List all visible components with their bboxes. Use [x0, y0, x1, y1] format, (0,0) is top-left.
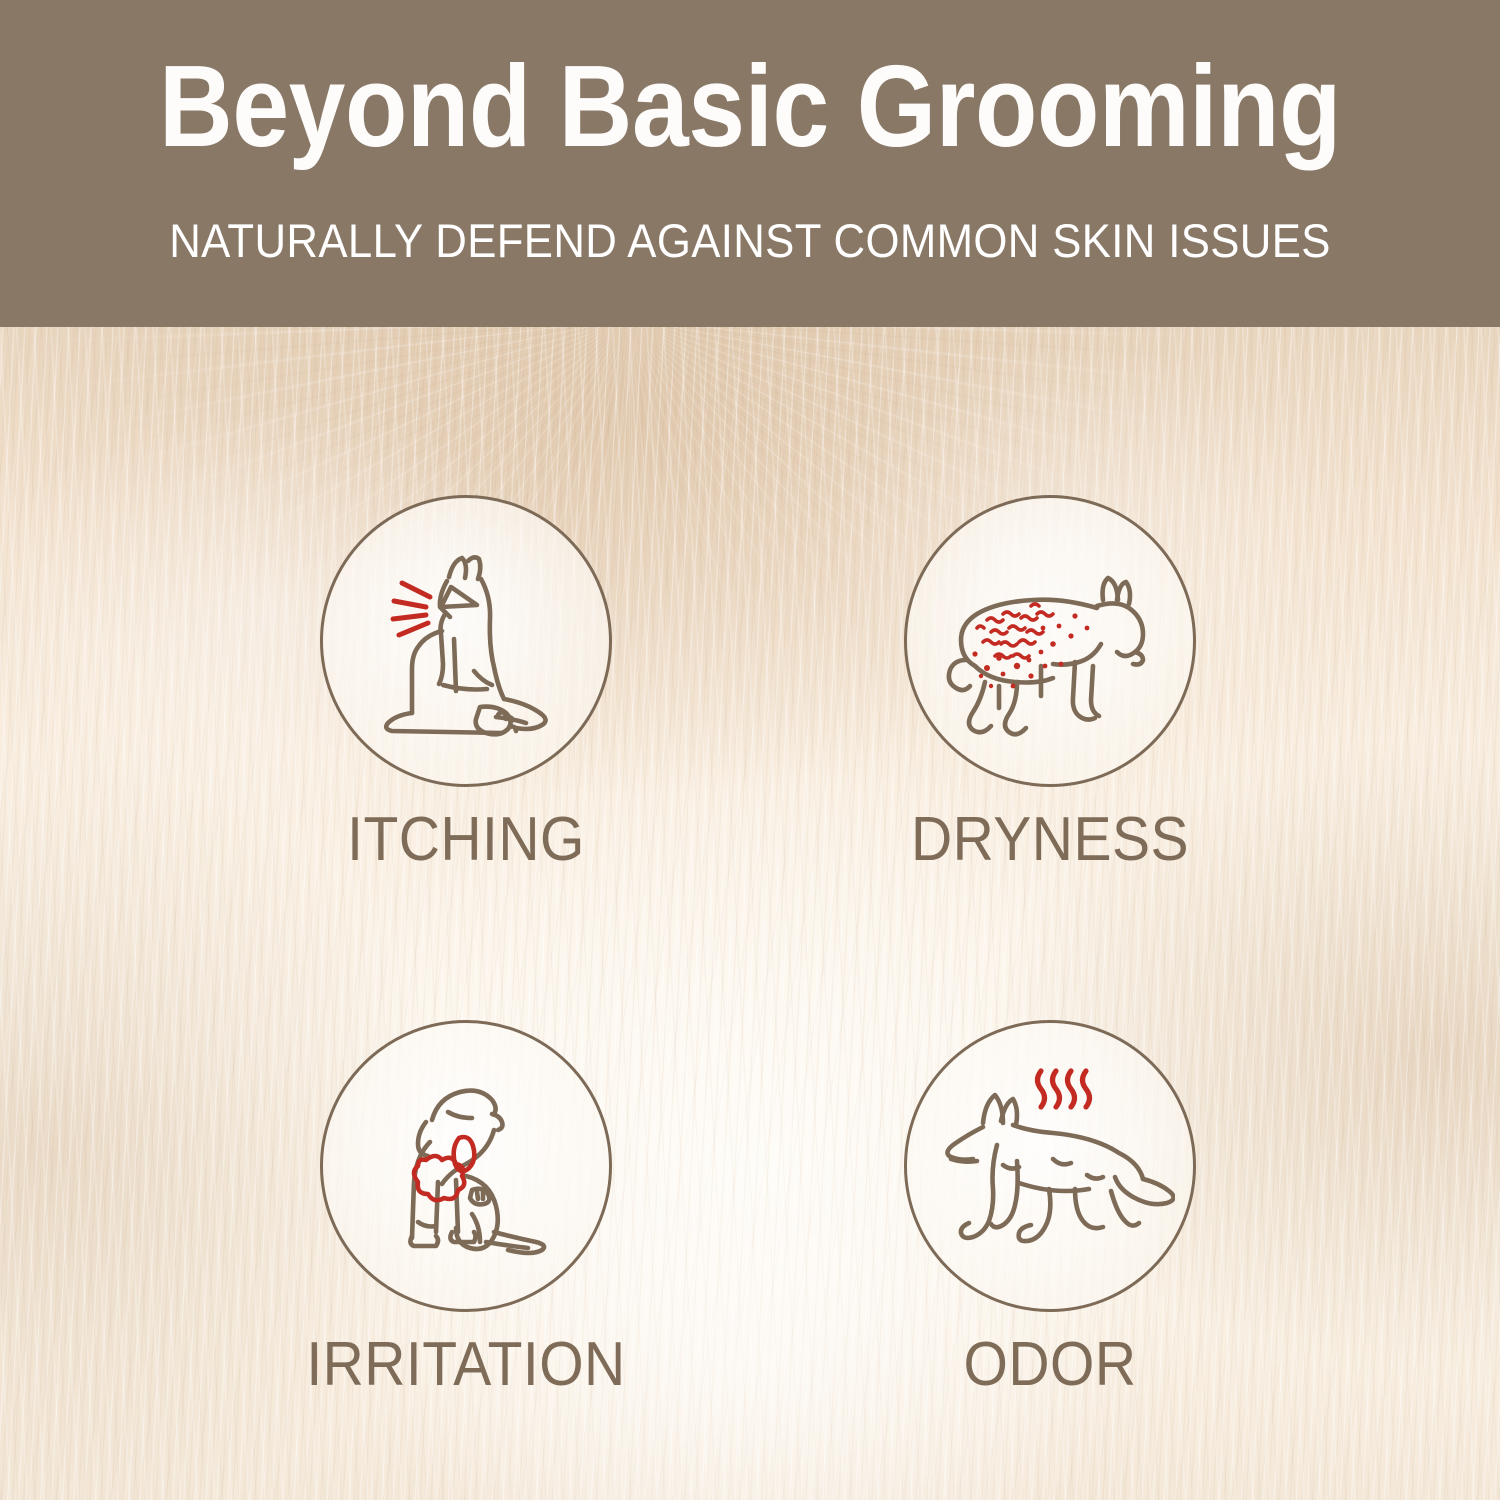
- feature-item-irritation: IRRITATION: [236, 1020, 696, 1396]
- badge-irritation: [320, 1020, 612, 1312]
- page-subtitle: NATURALLY DEFEND AGAINST COMMON SKIN ISS…: [53, 215, 1448, 267]
- badge-dryness: [904, 495, 1196, 787]
- itch-motion-lines: [393, 583, 430, 635]
- odor-wave-lines: [1038, 1071, 1090, 1107]
- page-title: Beyond Basic Grooming: [90, 46, 1410, 168]
- irritation-patches: [414, 1137, 474, 1200]
- feature-label-irritation: IRRITATION: [254, 1334, 677, 1396]
- dog-odor-icon: [925, 1041, 1175, 1291]
- product-infographic: Beyond Basic Grooming NATURALLY DEFEND A…: [0, 0, 1500, 1500]
- header-band: Beyond Basic Grooming NATURALLY DEFEND A…: [0, 0, 1500, 327]
- dog-scratching-icon: [346, 521, 586, 761]
- dog-sitting-irritation-icon: [346, 1046, 586, 1286]
- feature-label-odor: ODOR: [838, 1334, 1261, 1396]
- feature-item-itching: ITCHING: [236, 495, 696, 871]
- feature-label-itching: ITCHING: [254, 809, 677, 871]
- dog-flaky-skin-icon: [925, 516, 1175, 766]
- feature-item-dryness: DRYNESS: [820, 495, 1280, 871]
- badge-odor: [904, 1020, 1196, 1312]
- feature-item-odor: ODOR: [820, 1020, 1280, 1396]
- feature-label-dryness: DRYNESS: [838, 809, 1261, 871]
- badge-itching: [320, 495, 612, 787]
